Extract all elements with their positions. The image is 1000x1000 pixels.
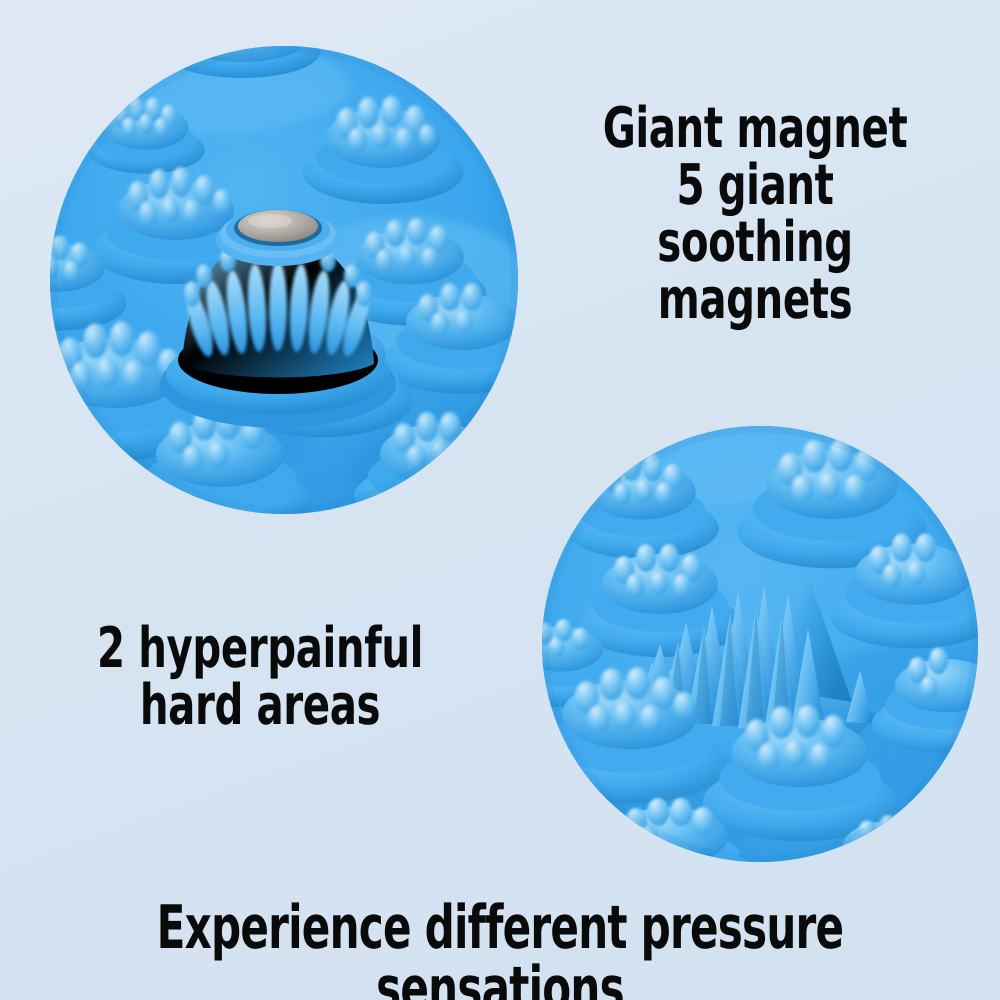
caption-hyperpainful-hard-areas: 2 hyperpainful hard areas	[76, 620, 444, 734]
magnet-closeup-photo	[50, 46, 518, 514]
hard-area-closeup-photo	[542, 426, 978, 862]
caption-bottom-tagline: Experience different pressure sensations	[110, 898, 890, 1000]
poster-canvas: Giant magnet 5 giant soothing magnets 2 …	[0, 0, 1000, 1000]
caption-giant-magnet: Giant magnet 5 giant soothing magnets	[567, 100, 943, 328]
